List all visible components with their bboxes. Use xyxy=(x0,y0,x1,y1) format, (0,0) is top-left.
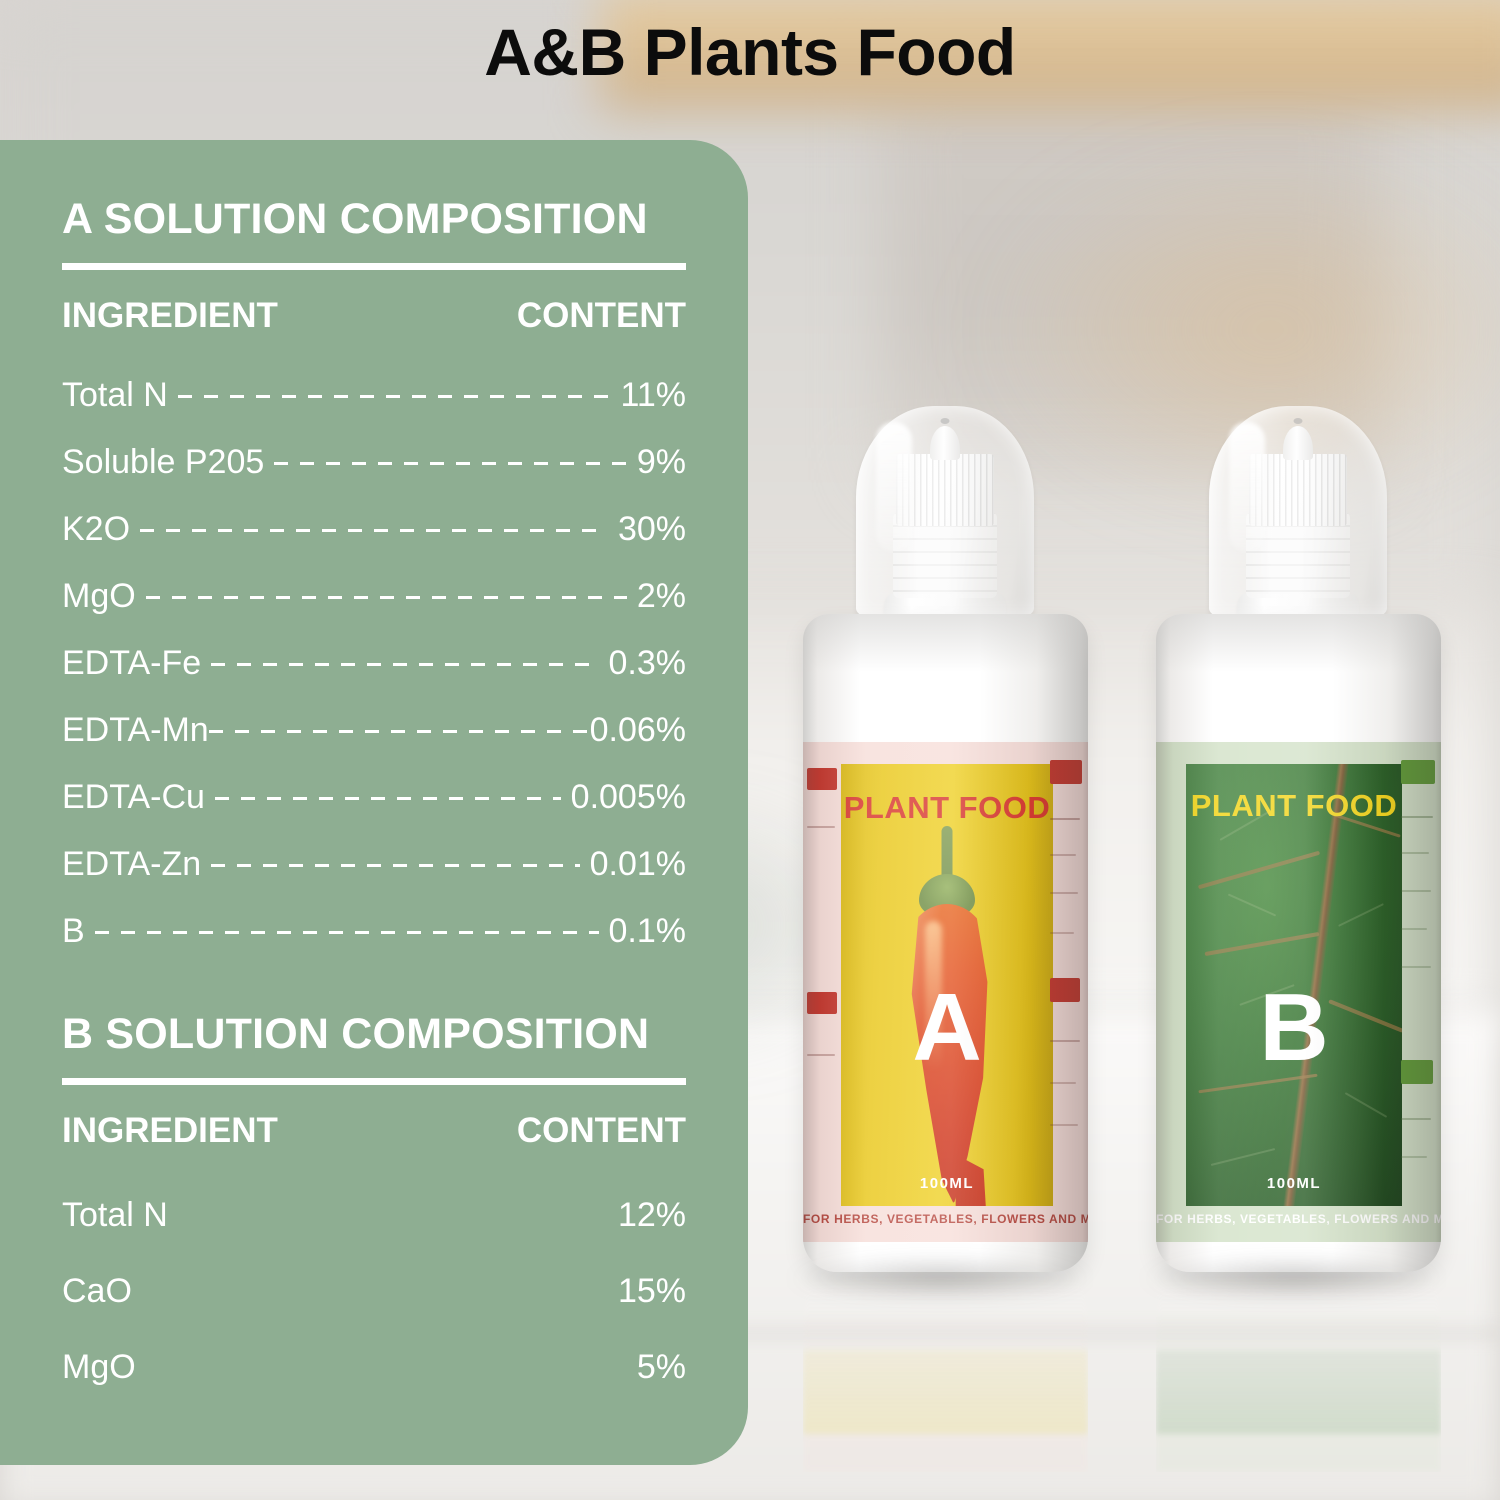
ingredient-name: EDTA-Zn xyxy=(62,845,201,884)
table-row: CaO 15% xyxy=(62,1253,686,1329)
bottle-b-volume: 100ML xyxy=(1186,1175,1402,1192)
section-a-col-content: CONTENT xyxy=(517,296,686,336)
ingredient-value: 15% xyxy=(618,1272,686,1311)
table-row: B 0.1% xyxy=(62,898,686,965)
leader-dashes xyxy=(211,663,598,666)
ingredient-name: Soluble P205 xyxy=(62,443,264,482)
bottle-b-side-panel-right xyxy=(1399,742,1441,1242)
table-row: K2O 30% xyxy=(62,496,686,563)
ingredient-value: 2% xyxy=(637,577,686,616)
leader-dashes xyxy=(211,864,579,867)
bottle-a-cap xyxy=(850,392,1040,624)
bottle-a-side-panel-left xyxy=(803,742,839,1242)
section-spacer xyxy=(62,965,686,1013)
section-b-rows: Total N 12% CaO 15% MgO 5% xyxy=(62,1177,686,1405)
ingredient-value: 12% xyxy=(618,1196,686,1235)
section-a-heading: A SOLUTION COMPOSITION xyxy=(62,198,686,241)
bottle-b-side-panel-left xyxy=(1156,742,1184,1242)
section-a-solution: A SOLUTION COMPOSITION INGREDIENT CONTEN… xyxy=(62,198,686,965)
section-b-solution: B SOLUTION COMPOSITION INGREDIENT CONTEN… xyxy=(62,1013,686,1405)
bottle-b-letter: B xyxy=(1186,980,1402,1076)
bottle-a-contact-shadow xyxy=(790,1258,1090,1298)
ingredient-name: MgO xyxy=(62,577,136,616)
ingredient-name: MgO xyxy=(62,1348,136,1387)
bottle-b-side-header-bar-2 xyxy=(1401,1060,1433,1084)
bottle-a-side-rule-8 xyxy=(1050,1082,1076,1084)
bottle-a-dome-cap xyxy=(856,406,1034,616)
bottle-b-side-rule-3 xyxy=(1401,890,1431,892)
ingredient-value: 0.1% xyxy=(609,912,687,951)
ingredient-name: EDTA-Cu xyxy=(62,778,205,817)
ingredient-value: 0.01% xyxy=(590,845,686,884)
table-row: EDTA-Zn 0.01% xyxy=(62,831,686,898)
ingredient-name: EDTA-Fe xyxy=(62,644,201,683)
bottle-a-side-rule-5 xyxy=(1050,892,1078,894)
bottle-a-side-rule-2 xyxy=(807,1054,835,1056)
bottle-b-side-rule-1 xyxy=(1401,816,1433,818)
section-b-col-ingredient: INGREDIENT xyxy=(62,1111,278,1151)
table-row: Total N 11% xyxy=(62,362,686,429)
section-b-divider xyxy=(62,1078,686,1085)
bottle-a-tagline: FOR HERBS, VEGETABLES, FLOWERS AND MORE xyxy=(803,1212,1088,1226)
leaf-veinlet-5 xyxy=(1345,1092,1388,1118)
ingredient-value: 9% xyxy=(637,443,686,482)
leader-dashes xyxy=(215,797,561,800)
bottle-a-side-rule-6 xyxy=(1050,932,1074,934)
bottle-a-side-header-bar-4 xyxy=(1050,978,1080,1002)
ingredient-name: EDTA-Mn xyxy=(62,711,209,750)
bottle-a-letter: A xyxy=(841,980,1053,1076)
ingredient-value: 5% xyxy=(637,1348,686,1387)
section-b-col-content: CONTENT xyxy=(517,1111,686,1151)
leaf-veinlet-2 xyxy=(1228,894,1276,917)
ingredient-name: CaO xyxy=(62,1272,132,1311)
leaf-vein-2 xyxy=(1205,932,1320,956)
bottle-b-dome-cap xyxy=(1209,406,1387,616)
ingredient-value: 0.005% xyxy=(571,778,686,817)
bottle-b-front-panel: PLANT FOOD B 100ML xyxy=(1186,764,1402,1206)
bottle-a-side-header-bar-2 xyxy=(807,992,837,1014)
table-row: Total N 12% xyxy=(62,1177,686,1253)
composition-panel: A SOLUTION COMPOSITION INGREDIENT CONTEN… xyxy=(0,140,748,1465)
leaf-veinlet-6 xyxy=(1211,1148,1276,1166)
bottle-b-side-rule-2 xyxy=(1401,852,1429,854)
leader-dashes xyxy=(209,730,587,733)
bottle-a-side-panel-right xyxy=(1048,742,1088,1242)
bottle-b-side-rule-7 xyxy=(1401,1156,1427,1158)
bottle-b-label-wrap: PLANT FOOD B 100ML FOR HERBS, VEGETABLES… xyxy=(1156,742,1441,1242)
section-b-column-headers: INGREDIENT CONTENT xyxy=(62,1111,686,1151)
leader-dashes xyxy=(140,529,608,532)
leader-dashes xyxy=(95,931,599,934)
section-a-column-headers: INGREDIENT CONTENT xyxy=(62,296,686,336)
bottle-b-body: PLANT FOOD B 100ML FOR HERBS, VEGETABLES… xyxy=(1156,614,1441,1272)
bottle-a-side-rule-4 xyxy=(1050,854,1076,856)
bottle-a: PLANT FOOD A 100ML FOR HERBS, VEGETABLES… xyxy=(795,392,1095,1272)
ingredient-value: 11% xyxy=(620,376,686,415)
bottle-a-side-header-bar-3 xyxy=(1050,760,1082,784)
bottle-b-side-rule-5 xyxy=(1401,966,1431,968)
bottle-a-side-rule-9 xyxy=(1050,1124,1078,1126)
leader-dashes xyxy=(178,395,611,398)
ingredient-name: Total N xyxy=(62,376,168,415)
leaf-vein-1 xyxy=(1198,851,1320,890)
ingredient-value: 30% xyxy=(618,510,686,549)
bottle-b-cap-vent-dot xyxy=(1294,418,1303,424)
table-row: MgO 2% xyxy=(62,563,686,630)
bottle-b-side-rule-6 xyxy=(1401,1118,1431,1120)
leader-dashes xyxy=(146,596,627,599)
section-a-divider xyxy=(62,263,686,270)
table-row: EDTA-Cu 0.005% xyxy=(62,764,686,831)
bottle-a-side-rule-1 xyxy=(807,826,835,828)
bottle-b-side-rule-4 xyxy=(1401,928,1427,930)
ingredient-name: B xyxy=(62,912,85,951)
section-b-heading: B SOLUTION COMPOSITION xyxy=(62,1013,686,1056)
bottle-b: PLANT FOOD B 100ML FOR HERBS, VEGETABLES… xyxy=(1148,392,1448,1272)
bottle-a-side-header-bar-1 xyxy=(807,768,837,790)
bottle-b-shoulder xyxy=(1156,614,1441,672)
table-row: EDTA-Fe 0.3% xyxy=(62,630,686,697)
page-title: A&B Plants Food xyxy=(0,14,1500,90)
bottle-a-volume: 100ML xyxy=(841,1175,1053,1192)
bottle-a-shoulder xyxy=(803,614,1088,672)
leaf-veinlet-4 xyxy=(1338,903,1384,927)
bottle-b-product-name: PLANT FOOD xyxy=(1186,788,1402,824)
bottle-a-cap-vent-dot xyxy=(941,418,950,424)
ingredient-value: 0.3% xyxy=(609,644,687,683)
table-row: EDTA-Mn 0.06% xyxy=(62,697,686,764)
table-row: Soluble P205 9% xyxy=(62,429,686,496)
bottle-a-side-rule-3 xyxy=(1050,818,1080,820)
bottle-a-product-name: PLANT FOOD xyxy=(841,790,1053,826)
bottle-a-body: PLANT FOOD A 100ML FOR HERBS, VEGETABLES… xyxy=(803,614,1088,1272)
bottle-b-cap xyxy=(1203,392,1393,624)
bottle-b-contact-shadow xyxy=(1143,1258,1443,1298)
table-row: MgO 5% xyxy=(62,1329,686,1405)
bottle-b-side-header-bar-1 xyxy=(1401,760,1435,784)
ingredient-name: K2O xyxy=(62,510,130,549)
bottle-a-front-panel: PLANT FOOD A 100ML xyxy=(841,764,1053,1206)
section-a-rows: Total N 11% Soluble P205 9% K2O 30% MgO … xyxy=(62,362,686,965)
ingredient-name: Total N xyxy=(62,1196,168,1235)
bottle-a-side-rule-7 xyxy=(1050,1040,1080,1042)
leader-dashes xyxy=(274,462,627,465)
section-a-col-ingredient: INGREDIENT xyxy=(62,296,278,336)
ingredient-value: 0.06% xyxy=(590,711,686,750)
bottle-a-label-wrap: PLANT FOOD A 100ML FOR HERBS, VEGETABLES… xyxy=(803,742,1088,1242)
